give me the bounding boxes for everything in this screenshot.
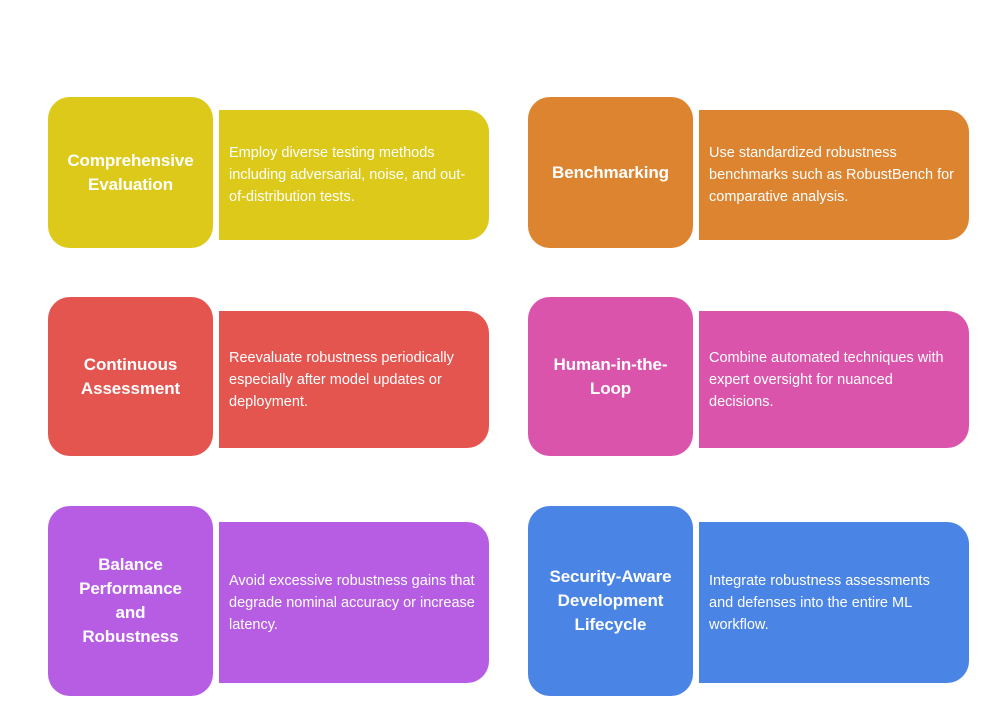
card-description-panel[interactable]: Combine automated techniques with expert… [699, 311, 969, 448]
card-description: Avoid excessive robustness gains that de… [229, 570, 475, 636]
card-description: Use standardized robustness benchmarks s… [709, 142, 955, 208]
card-label-panel[interactable]: Security-Aware Development Lifecycle [528, 506, 693, 696]
card-description-panel[interactable]: Employ diverse testing methods including… [219, 110, 489, 240]
card-description-panel[interactable]: Integrate robustness assessments and def… [699, 522, 969, 683]
card-title: Continuous Assessment [81, 353, 180, 401]
card-board: Comprehensive Evaluation Employ diverse … [0, 0, 1008, 722]
card-title: Benchmarking [552, 161, 669, 185]
card-title: Security-Aware Development Lifecycle [549, 565, 671, 637]
card-label-panel[interactable]: Benchmarking [528, 97, 693, 248]
card-description-panel[interactable]: Use standardized robustness benchmarks s… [699, 110, 969, 240]
card-label-panel[interactable]: Human-in-the- Loop [528, 297, 693, 456]
card-title: Human-in-the- Loop [554, 353, 668, 401]
card-description: Employ diverse testing methods including… [229, 142, 475, 208]
card-description: Reevaluate robustness periodically espec… [229, 347, 475, 413]
card-title: Balance Performance and Robustness [79, 553, 182, 649]
card-description-panel[interactable]: Reevaluate robustness periodically espec… [219, 311, 489, 448]
card-description-panel[interactable]: Avoid excessive robustness gains that de… [219, 522, 489, 683]
card-title: Comprehensive Evaluation [67, 149, 193, 197]
card-label-panel[interactable]: Comprehensive Evaluation [48, 97, 213, 248]
card-description: Combine automated techniques with expert… [709, 347, 955, 413]
card-label-panel[interactable]: Balance Performance and Robustness [48, 506, 213, 696]
card-description: Integrate robustness assessments and def… [709, 570, 955, 636]
card-label-panel[interactable]: Continuous Assessment [48, 297, 213, 456]
